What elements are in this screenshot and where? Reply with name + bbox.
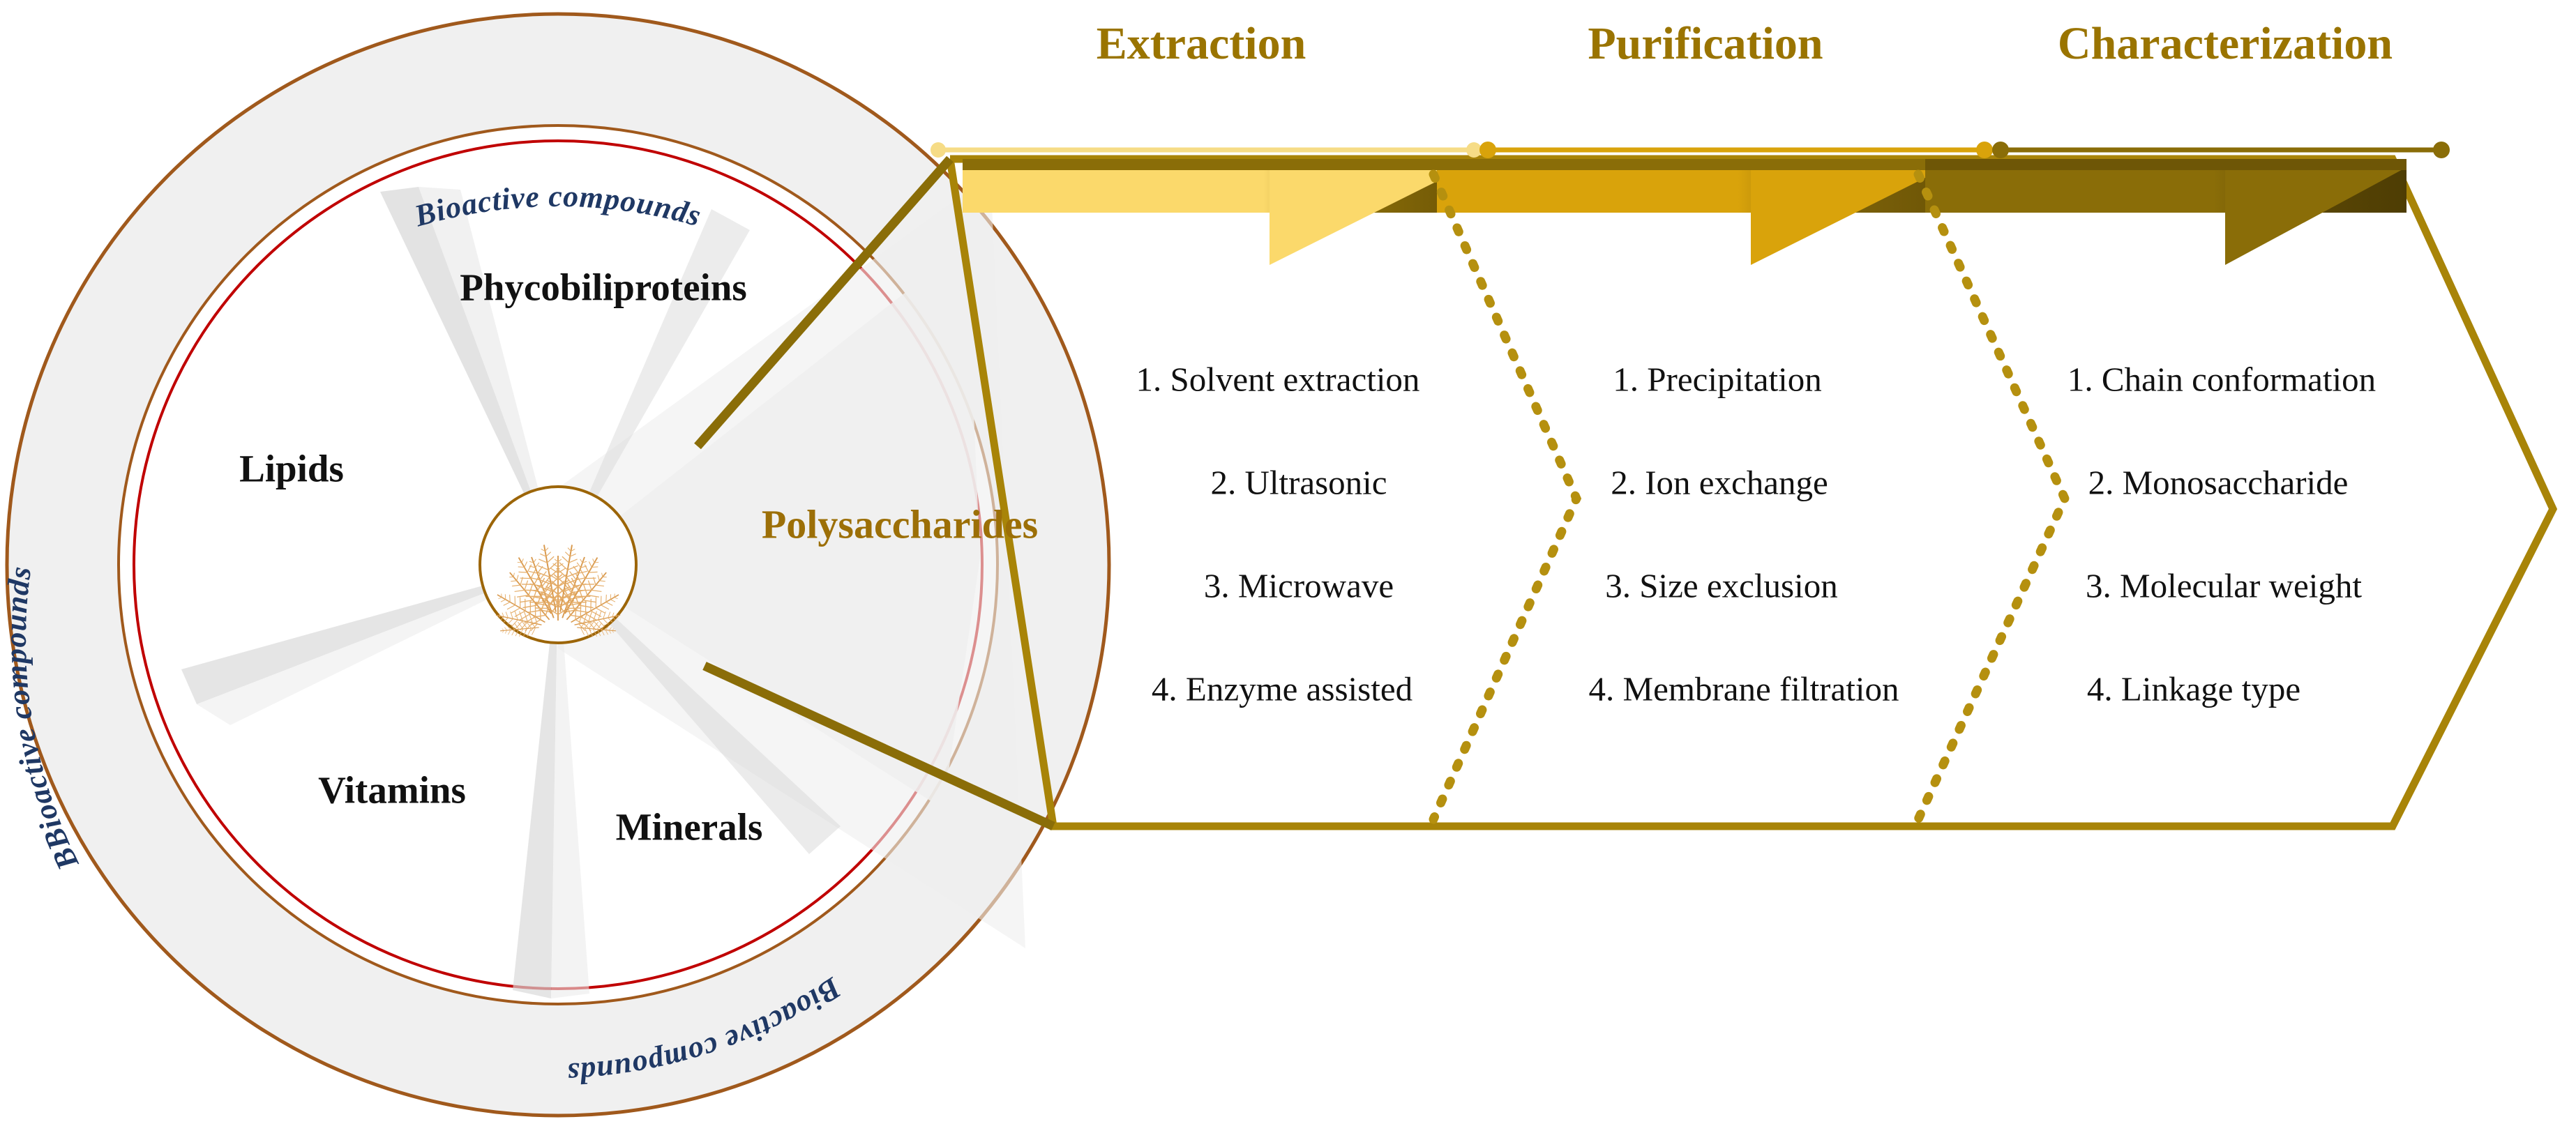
wheel-segment-label-phycobiliproteins: Phycobiliproteins xyxy=(460,266,747,310)
method-item: 3. Molecular weight xyxy=(2086,566,2362,606)
stage-header-purification: Purification xyxy=(1588,17,1823,70)
stage-header-characterization: Characterization xyxy=(2058,17,2393,70)
method-item: 2. Ion exchange xyxy=(1611,463,1828,503)
wheel-segment-label-vitamins: Vitamins xyxy=(318,768,466,812)
stage-header-extraction: Extraction xyxy=(1097,17,1306,70)
method-item: 2. Monosaccharide xyxy=(2088,463,2349,503)
method-item: 4. Membrane filtration xyxy=(1589,669,1899,709)
wheel-segment-label-polysaccharides: Polysaccharides xyxy=(762,501,1038,548)
method-item: 4. Enzyme assisted xyxy=(1152,669,1413,709)
method-item: 2. Ultrasonic xyxy=(1210,463,1387,503)
wheel-segment-label-lipids: Lipids xyxy=(239,447,344,491)
wheel-center-circle xyxy=(480,487,636,643)
diagram-canvas: Bioactive compounds BBioactive compounds… xyxy=(0,0,2576,1140)
method-item: 1. Solvent extraction xyxy=(1136,360,1420,400)
stage-band-purification xyxy=(1437,159,1946,265)
stage-divider-2 xyxy=(1918,174,2065,819)
method-item: 1. Precipitation xyxy=(1613,360,1821,400)
method-item: 4. Linkage type xyxy=(2087,669,2300,709)
method-item: 3. Microwave xyxy=(1204,566,1394,606)
method-item: 3. Size exclusion xyxy=(1605,566,1837,606)
stage-band-characterization xyxy=(1925,159,2406,265)
method-item: 1. Chain conformation xyxy=(2067,360,2376,400)
wheel-segment-label-minerals: Minerals xyxy=(616,805,763,849)
stage-divider-1 xyxy=(1433,174,1576,819)
stage-band-extraction xyxy=(963,159,1465,265)
